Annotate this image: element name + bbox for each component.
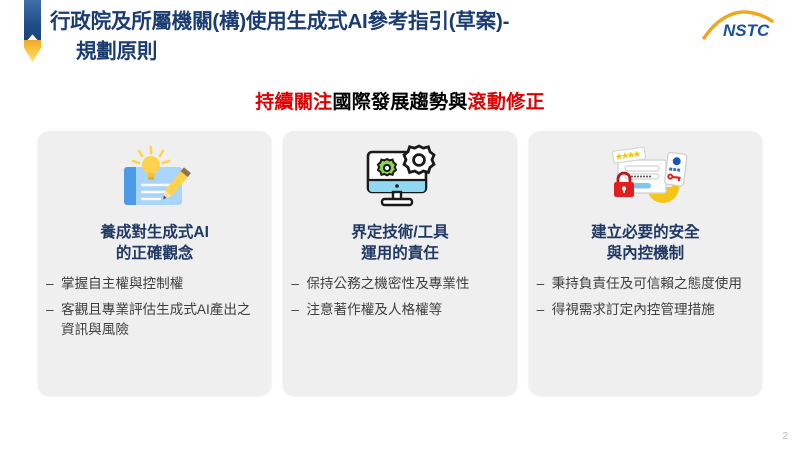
page-number: 2	[782, 431, 788, 442]
card-awareness-list: – 掌握自主權與控制權 – 客觀且專業評估生成式AI產出之資訊與風險	[38, 274, 271, 340]
nstc-logo-text: NSTC	[723, 21, 770, 40]
bullet-dash: –	[46, 300, 61, 320]
slide-header: 行政院及所屬機關(構)使用生成式AI參考指引(草案)- 規劃原則 NSTC	[0, 0, 800, 78]
bullet-dash: –	[537, 274, 552, 294]
subtitle-highlight-start: 持續關注	[255, 92, 332, 113]
list-item-text: 掌握自主權與控制權	[61, 274, 261, 294]
card-responsibility-heading-line-2: 運用的責任	[361, 245, 439, 262]
card-responsibility-list: – 保持公務之機密性及專業性 – 注意著作權及人格權等	[283, 274, 516, 320]
page-title-line-2: 規劃原則	[50, 37, 690, 67]
list-item: – 保持公務之機密性及專業性	[291, 274, 506, 294]
card-responsibility[interactable]: 界定技術/工具 運用的責任 – 保持公務之機密性及專業性 – 注意著作權及人格權…	[283, 131, 516, 395]
card-security-heading: 建立必要的安全 與內控機制	[529, 222, 762, 265]
bullet-dash: –	[291, 274, 306, 294]
bullet-dash: –	[46, 274, 61, 294]
title-accent-bar	[24, 0, 41, 62]
subtitle-middle: 國際發展趨勢與	[332, 92, 467, 113]
subtitle-highlight-end: 滾動修正	[468, 92, 545, 113]
monitor-gears-icon	[283, 131, 516, 217]
accent-bar-yellow-segment	[24, 40, 41, 62]
page-title: 行政院及所屬機關(構)使用生成式AI參考指引(草案)- 規劃原則	[50, 7, 690, 66]
subtitle: 持續關注國際發展趨勢與滾動修正	[0, 87, 800, 114]
list-item-text: 保持公務之機密性及專業性	[306, 274, 506, 294]
card-awareness-heading-line-1: 養成對生成式AI	[100, 224, 209, 241]
notebook-lightbulb-pencil-icon	[38, 131, 271, 217]
list-item: – 客觀且專業評估生成式AI產出之資訊與風險	[46, 300, 261, 339]
card-security[interactable]: 建立必要的安全 與內控機制 – 秉持負責任及可信賴之態度使用 – 得視需求訂定內…	[529, 131, 762, 395]
card-security-heading-line-1: 建立必要的安全	[591, 224, 700, 241]
list-item: – 秉持負責任及可信賴之態度使用	[537, 274, 752, 294]
nstc-logo: NSTC	[700, 8, 786, 48]
list-item-text: 客觀且專業評估生成式AI產出之資訊與風險	[61, 300, 261, 339]
list-item: – 得視需求訂定內控管理措施	[537, 300, 752, 320]
card-responsibility-heading: 界定技術/工具 運用的責任	[283, 222, 516, 265]
card-awareness-heading-line-2: 的正確觀念	[116, 245, 194, 262]
list-item: – 掌握自主權與控制權	[46, 274, 261, 294]
card-security-list: – 秉持負責任及可信賴之態度使用 – 得視需求訂定內控管理措施	[529, 274, 762, 320]
list-item-text: 注意著作權及人格權等	[306, 300, 506, 320]
list-item: – 注意著作權及人格權等	[291, 300, 506, 320]
list-item-text: 秉持負責任及可信賴之態度使用	[552, 274, 752, 294]
bullet-dash: –	[537, 300, 552, 320]
card-responsibility-heading-line-1: 界定技術/工具	[351, 224, 448, 241]
page-title-line-1: 行政院及所屬機關(構)使用生成式AI參考指引(草案)-	[50, 10, 509, 33]
card-security-heading-line-2: 與內控機制	[607, 245, 685, 262]
card-awareness[interactable]: 養成對生成式AI 的正確觀念 – 掌握自主權與控制權 – 客觀且專業評估生成式A…	[38, 131, 271, 395]
login-security-lock-icon	[529, 131, 762, 217]
accent-bar-blue-segment	[24, 0, 41, 44]
principle-cards-row: 養成對生成式AI 的正確觀念 – 掌握自主權與控制權 – 客觀且專業評估生成式A…	[38, 131, 762, 395]
list-item-text: 得視需求訂定內控管理措施	[552, 300, 752, 320]
bullet-dash: –	[291, 300, 306, 320]
card-awareness-heading: 養成對生成式AI 的正確觀念	[38, 222, 271, 265]
